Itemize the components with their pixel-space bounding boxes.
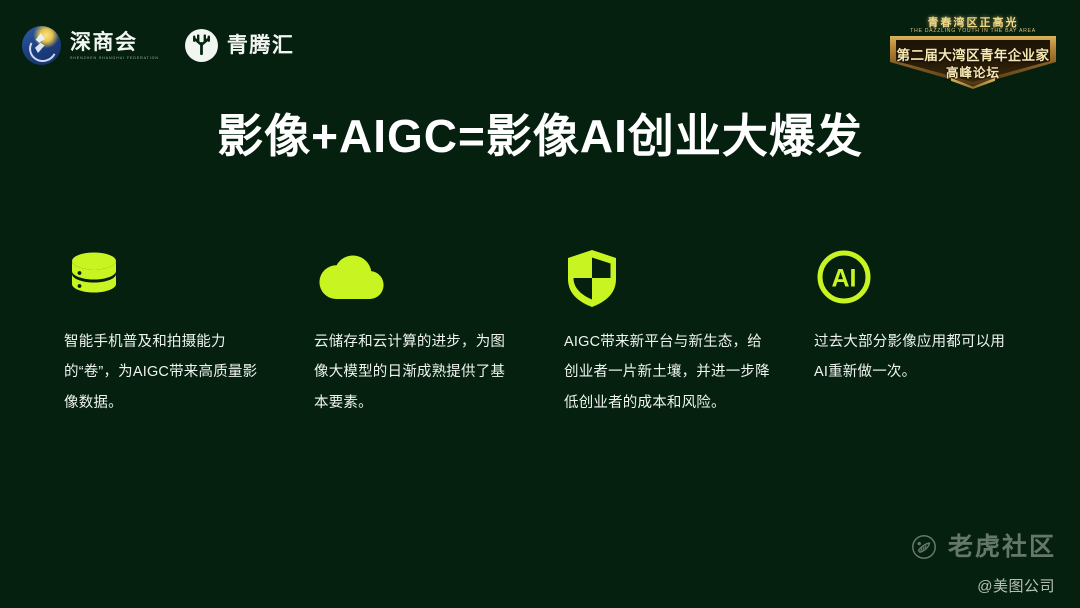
shangdui-logo-icon	[22, 26, 61, 65]
shangdui-logo-name: 深商会	[70, 32, 159, 53]
forum-emblem: 青春湾区正高光 THE DAZZLING YOUTH IN THE BAY AR…	[888, 4, 1058, 88]
tiger-paw-icon	[911, 534, 937, 560]
slide-headline: 影像+AIGC=影像AI创业大爆发	[0, 108, 1080, 166]
community-watermark: 老虎社区	[911, 534, 1056, 560]
community-watermark-label: 老虎社区	[948, 535, 1056, 560]
emblem-slogan-en: THE DAZZLING YOUTH IN THE BAY AREA	[888, 28, 1058, 34]
emblem-title-line2: 高峰论坛	[888, 62, 1058, 81]
feature-columns: 智能手机普及和拍摄能力的“卷”，为AIGC带来高质量影像数据。 云储存和云计算的…	[64, 247, 1024, 418]
shield-icon	[564, 247, 814, 309]
qingteng-tree-icon	[185, 29, 218, 62]
source-handle-watermark: @美图公司	[977, 575, 1055, 596]
feature-column-1: 智能手机普及和拍摄能力的“卷”，为AIGC带来高质量影像数据。	[64, 247, 314, 418]
cloud-icon	[314, 247, 564, 309]
logo-qingteng: 青腾汇	[185, 29, 295, 62]
logo-shangdui: 深商会 SHENZHEN SHANGHUI FEDERATION	[22, 26, 159, 65]
feature-text-2: 云储存和云计算的进步，为图像大模型的日渐成熟提供了基本要素。	[314, 327, 514, 418]
ai-circle-icon: AI	[814, 247, 1064, 309]
database-icon	[64, 247, 314, 309]
qingteng-logo-name: 青腾汇	[227, 35, 295, 56]
feature-column-2: 云储存和云计算的进步，为图像大模型的日渐成熟提供了基本要素。	[314, 247, 564, 418]
feature-text-4: 过去大部分影像应用都可以用AI重新做一次。	[814, 327, 1014, 388]
svg-text:AI: AI	[832, 265, 857, 293]
shangdui-logo-subtitle: SHENZHEN SHANGHUI FEDERATION	[70, 56, 159, 60]
presentation-slide: 深商会 SHENZHEN SHANGHUI FEDERATION	[0, 0, 1080, 608]
feature-column-4: AI 过去大部分影像应用都可以用AI重新做一次。	[814, 247, 1064, 418]
shangdui-logo-text: 深商会 SHENZHEN SHANGHUI FEDERATION	[70, 32, 159, 60]
feature-column-3: AIGC带来新平台与新生态，给创业者一片新土壤，并进一步降低创业者的成本和风险。	[564, 247, 814, 418]
feature-text-1: 智能手机普及和拍摄能力的“卷”，为AIGC带来高质量影像数据。	[64, 327, 264, 418]
logo-bar: 深商会 SHENZHEN SHANGHUI FEDERATION	[22, 26, 294, 65]
feature-text-3: AIGC带来新平台与新生态，给创业者一片新土壤，并进一步降低创业者的成本和风险。	[564, 327, 772, 418]
emblem-title-line1: 第二届大湾区青年企业家	[888, 44, 1058, 64]
